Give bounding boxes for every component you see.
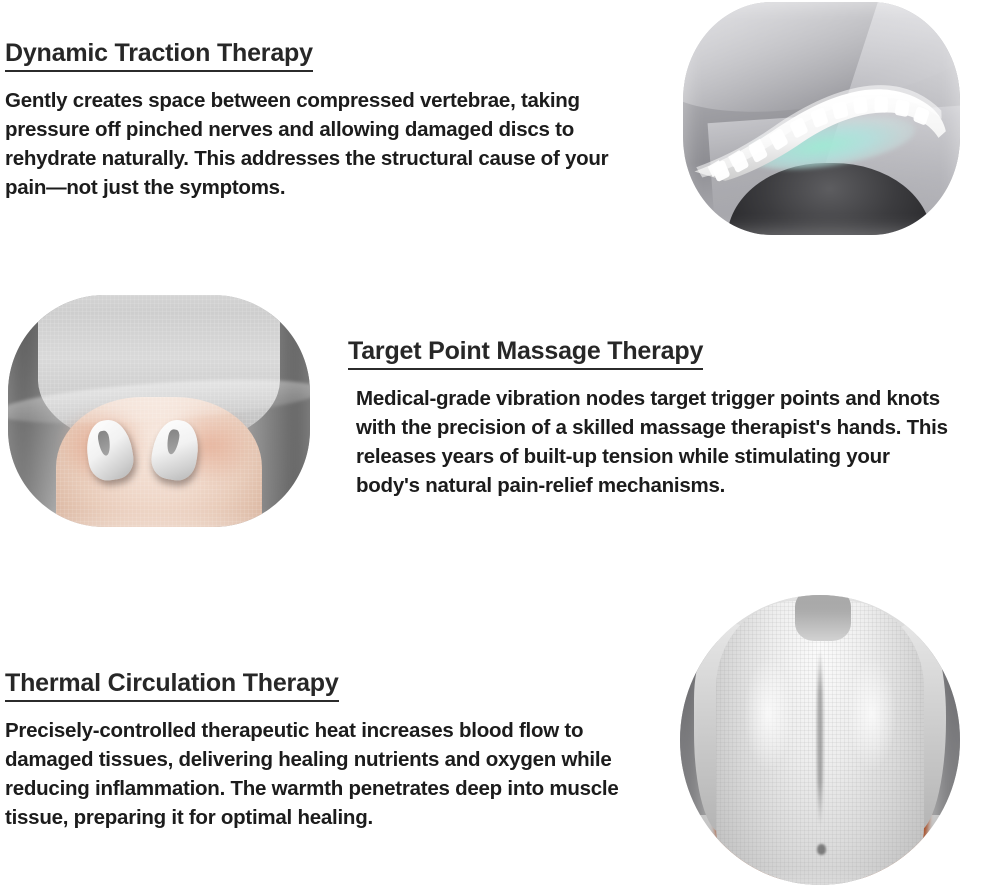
spine-traction-photo <box>683 2 960 235</box>
section-thermal-text: Thermal Circulation Therapy Precisely-co… <box>5 670 653 832</box>
section-thermal-heading: Thermal Circulation Therapy <box>5 670 339 702</box>
section-traction-body: Gently creates space between compressed … <box>5 86 633 202</box>
section-traction-heading: Dynamic Traction Therapy <box>5 40 313 72</box>
lat-muscle-left <box>744 659 792 769</box>
section-massage-body: Medical-grade vibration nodes target tri… <box>348 384 948 500</box>
lat-muscle-right <box>848 659 896 769</box>
section-massage-heading: Target Point Massage Therapy <box>348 338 703 370</box>
thermal-back-photo <box>680 595 960 885</box>
feature-list-page: Dynamic Traction Therapy Gently creates … <box>0 0 987 896</box>
section-thermal-body: Precisely-controlled therapeutic heat in… <box>5 716 653 832</box>
spine-vertebrae-graphic <box>686 53 956 188</box>
neck <box>795 595 851 641</box>
lower-back-dimple <box>817 844 825 854</box>
section-traction-text: Dynamic Traction Therapy Gently creates … <box>5 40 633 202</box>
section-massage-text: Target Point Massage Therapy Medical-gra… <box>348 338 948 500</box>
massage-nodes-photo <box>8 295 310 527</box>
